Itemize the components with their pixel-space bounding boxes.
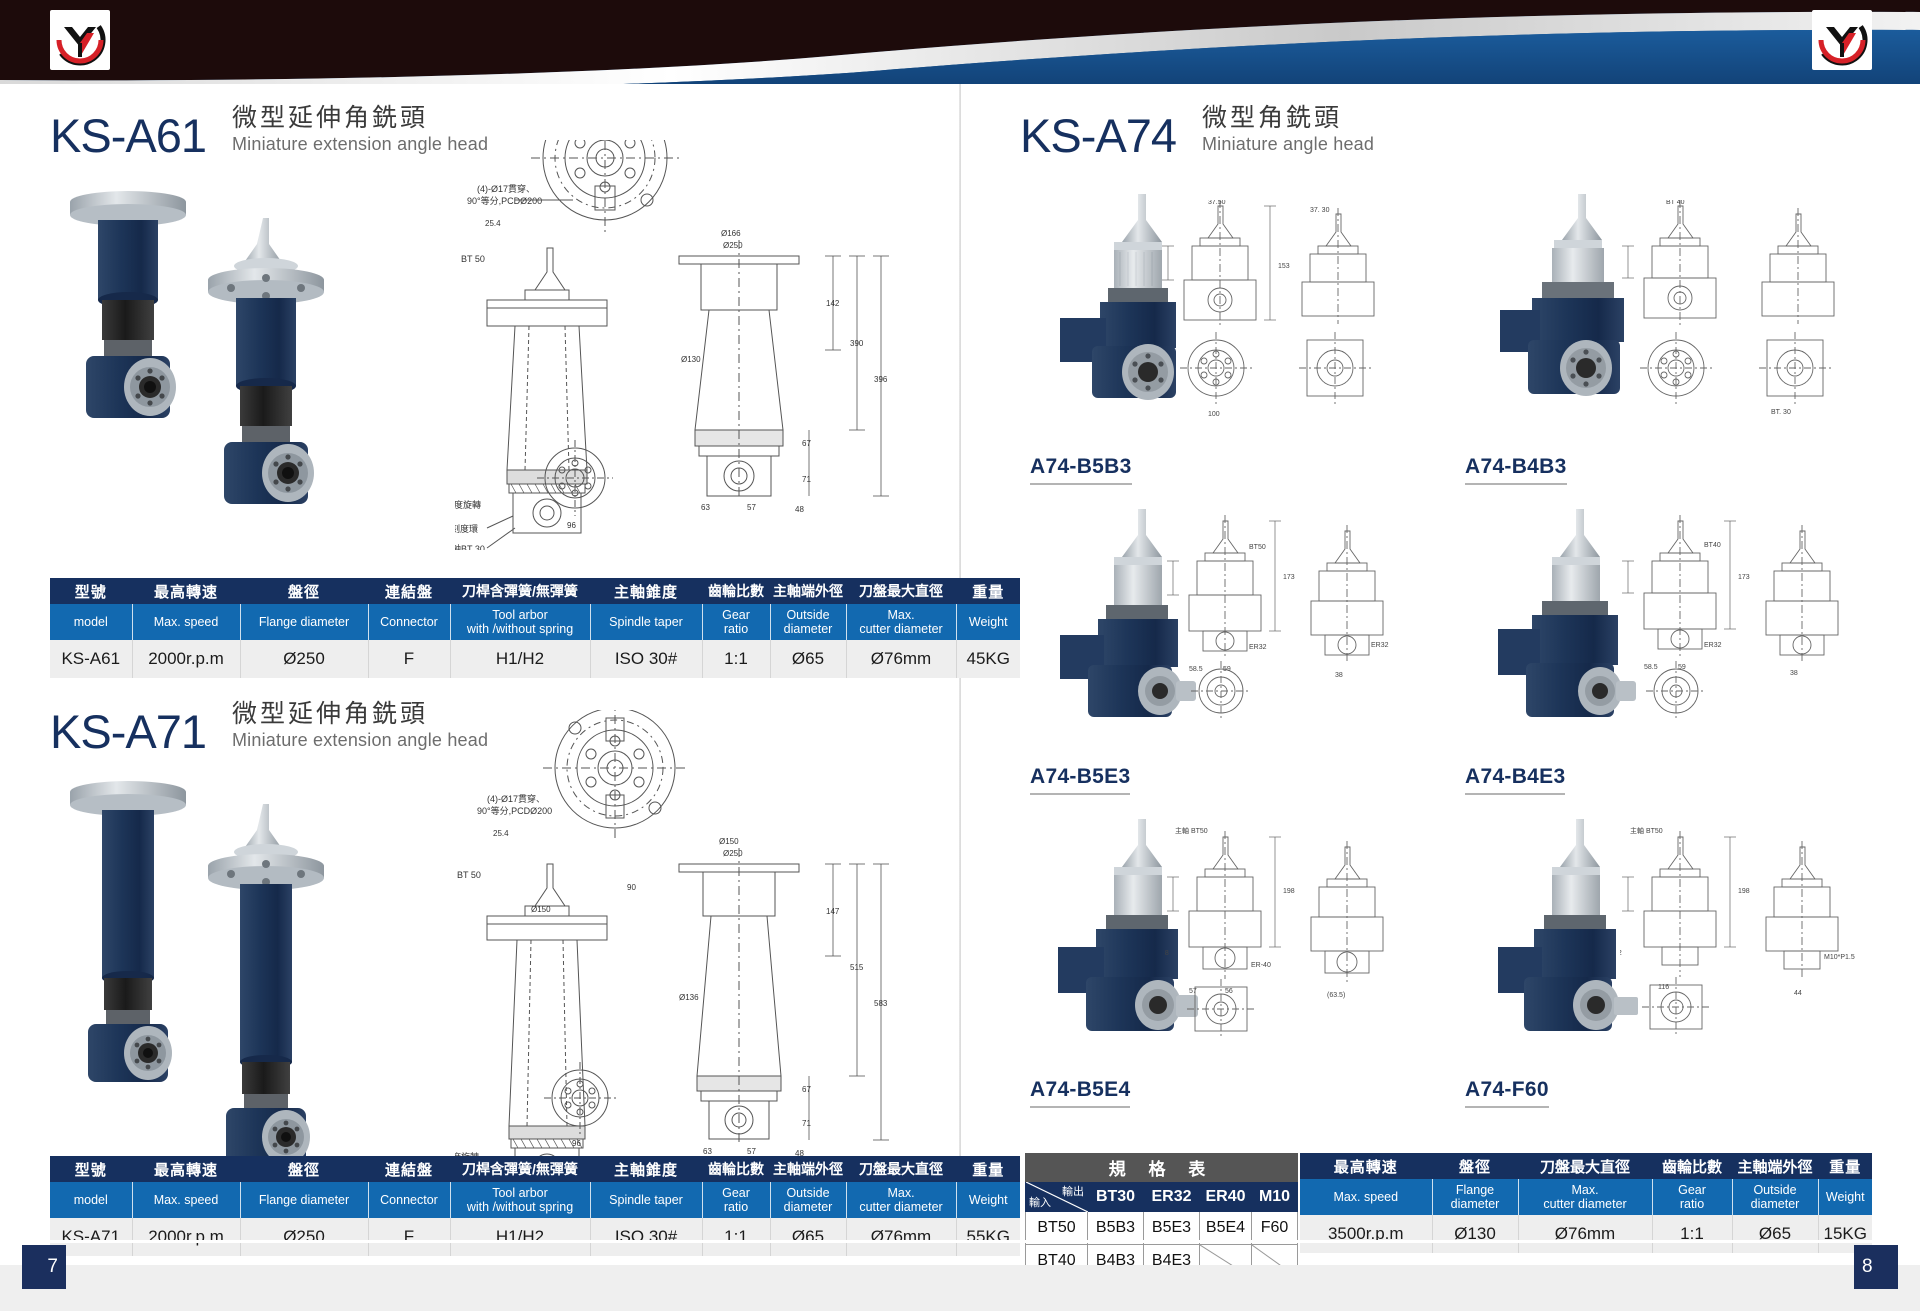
- svg-text:ER32: ER32: [1704, 642, 1722, 649]
- svg-text:BT40: BT40: [1704, 542, 1721, 549]
- th-cn-taper: 主軸錐度: [590, 1156, 702, 1182]
- th-en-model: model: [50, 604, 132, 640]
- product-label-a74-b5e3: A74-B5E3: [1030, 765, 1130, 795]
- svg-text:37.50: 37.50: [1208, 200, 1226, 206]
- svg-text:56: 56: [1225, 988, 1233, 995]
- svg-text:173: 173: [1283, 574, 1295, 581]
- th-en-weight: Weight: [1818, 1179, 1872, 1215]
- th-en-arbor: Tool arbor with /without spring: [450, 604, 590, 640]
- svg-text:142: 142: [826, 299, 840, 308]
- th-cn-flange: 盤徑: [240, 578, 368, 604]
- svg-text:71: 71: [802, 1119, 811, 1128]
- th-en-connector: Connector: [368, 1182, 450, 1218]
- top-banner: [0, 0, 1920, 84]
- svg-text:Ø150: Ø150: [719, 837, 739, 846]
- svg-text:Ø166: Ø166: [721, 229, 741, 238]
- svg-text:Ø130: Ø130: [681, 355, 701, 364]
- logo-left: [50, 10, 110, 70]
- th-en-cutter: Max. cutter diameter: [846, 1182, 956, 1218]
- th-cn-outside: 主軸端外徑: [1732, 1153, 1818, 1179]
- th-cn-flange: 盤徑: [240, 1156, 368, 1182]
- technical-drawing-a74-b5b3: 16(.R3) 153 37.50 37. 30 100: [1160, 200, 1410, 430]
- section-name-en: Miniature angle head: [1202, 133, 1374, 156]
- table-header-cn-row: 型號 最高轉速 盤徑 連結盤 刀桿含彈簧/無彈簧 主軸錐度 齒輪比數 主軸端外徑…: [50, 1156, 1020, 1182]
- section-heading-ks-a61: KS-A61 微型延伸角銑頭 Miniature extension angle…: [50, 104, 488, 158]
- table-header-en-row: Max. speed Flange diameter Max. cutter d…: [1300, 1179, 1872, 1215]
- matrix-corner-cell: 輸出 輸入: [1026, 1182, 1088, 1212]
- svg-text:198: 198: [1283, 888, 1295, 895]
- th-cn-connector: 連結盤: [368, 578, 450, 604]
- th-en-connector: Connector: [368, 604, 450, 640]
- td-weight: 55KG: [956, 1218, 1020, 1256]
- th-en-speed: Max. speed: [1300, 1179, 1432, 1215]
- svg-text:Ø250: Ø250: [723, 849, 743, 858]
- matrix-header-row: 輸出 輸入 BT30 ER32 ER40 M10: [1026, 1182, 1298, 1212]
- svg-text:153: 153: [1278, 263, 1290, 270]
- th-cn-speed: 最高轉速: [132, 1156, 240, 1182]
- svg-text:主軸BT 30: 主軸BT 30: [455, 543, 485, 550]
- th-en-flange: Flange diameter: [240, 604, 368, 640]
- th-en-flange: Flange diameter: [240, 1182, 368, 1218]
- product-label-a74-b4e3: A74-B4E3: [1465, 765, 1565, 795]
- section-heading-ks-a71: KS-A71 微型延伸角銑頭 Miniature extension angle…: [50, 700, 488, 754]
- th-en-outside: Outside diameter: [1732, 1179, 1818, 1215]
- th-cn-weight: 重量: [956, 578, 1020, 604]
- svg-text:M10*P1.5: M10*P1.5: [1824, 954, 1855, 961]
- section-name-cn: 微型延伸角銑頭: [232, 104, 488, 133]
- td-taper: ISO 30#: [590, 1218, 702, 1256]
- technical-drawing-a74-b5e3: BT50 ER32 173 58.5 59: [1165, 515, 1415, 735]
- company-logo-icon: [53, 13, 107, 67]
- th-en-arbor: Tool arbor with /without spring: [450, 1182, 590, 1218]
- spec-table-ks-a61: 型號 最高轉速 盤徑 連結盤 刀桿含彈簧/無彈簧 主軸錐度 齒輪比數 主軸端外徑…: [50, 578, 1020, 678]
- td-model: KS-A61: [50, 640, 132, 678]
- th-en-outside: Outside diameter: [770, 1182, 846, 1218]
- svg-text:38: 38: [1790, 670, 1798, 677]
- th-cn-arbor: 刀桿含彈簧/無彈簧: [450, 1156, 590, 1182]
- th-cn-arbor: 刀桿含彈簧/無彈簧: [450, 578, 590, 604]
- page-number-left: 7: [22, 1245, 66, 1289]
- td-connector: F: [368, 640, 450, 678]
- matrix-col-er40: ER40: [1200, 1182, 1252, 1212]
- svg-text:390: 390: [850, 339, 864, 348]
- th-en-gear: Gear ratio: [702, 604, 770, 640]
- svg-text:ER32: ER32: [1249, 644, 1267, 651]
- svg-text:主軸 BT50: 主軸 BT50: [1630, 826, 1663, 835]
- svg-text:BT 40: BT 40: [1666, 200, 1685, 206]
- td-weight: 45KG: [956, 640, 1020, 678]
- svg-text:57: 57: [747, 503, 756, 512]
- technical-drawing-a74-b5e4: 主軸 BT50 ER-40 198 48 57 56: [1165, 825, 1415, 1050]
- svg-text:38: 38: [1335, 672, 1343, 679]
- product-photos-ks-a61: [40, 190, 460, 550]
- table-header-en-row: model Max. speed Flange diameter Connect…: [50, 604, 1020, 640]
- th-cn-outside: 主軸端外徑: [770, 578, 846, 604]
- td-outside: Ø65: [770, 1218, 846, 1256]
- matrix-title-row: 規 格 表: [1026, 1154, 1298, 1182]
- svg-text:71: 71: [802, 475, 811, 484]
- td-connector: F: [368, 1218, 450, 1256]
- svg-text:42: 42: [1620, 950, 1622, 957]
- logo-right: [1812, 10, 1872, 70]
- section-code: KS-A61: [50, 114, 206, 159]
- model-matrix-table: 規 格 表 輸出 輸入 BT30 ER32 ER40 M10 BT50 B5B3…: [1025, 1153, 1298, 1278]
- td-arbor: H1/H2: [450, 640, 590, 678]
- th-en-taper: Spindle taper: [590, 604, 702, 640]
- th-cn-speed: 最高轉速: [1300, 1153, 1432, 1179]
- svg-text:刻度環: 刻度環: [455, 523, 478, 534]
- td-gear: 1:1: [702, 1218, 770, 1256]
- section-name-cn: 微型角銑頭: [1202, 104, 1374, 133]
- th-cn-gear: 齒輪比數: [702, 1156, 770, 1182]
- product-label-a74-b5b3: A74-B5B3: [1030, 455, 1132, 485]
- td-speed: 2000r.p.m: [132, 640, 240, 678]
- svg-text:Ø250: Ø250: [723, 241, 743, 250]
- footer-divider: [0, 1240, 1920, 1243]
- th-cn-model: 型號: [50, 578, 132, 604]
- th-en-weight: Weight: [956, 604, 1020, 640]
- svg-text:173: 173: [1738, 574, 1750, 581]
- table-row: KS-A71 2000r.p.m Ø250 F H1/H2 ISO 30# 1:…: [50, 1218, 1020, 1256]
- svg-text:63: 63: [703, 1147, 712, 1156]
- th-cn-model: 型號: [50, 1156, 132, 1182]
- matrix-corner-output: 輸出: [1062, 1183, 1084, 1199]
- section-code: KS-A74: [1020, 114, 1176, 159]
- svg-text:25.4: 25.4: [485, 219, 501, 228]
- section-code: KS-A71: [50, 710, 206, 755]
- technical-drawing-a74-f60: 主軸 BT50 198 42 116 M10*P1.5 44: [1620, 825, 1870, 1050]
- product-label-a74-f60: A74-F60: [1465, 1078, 1549, 1108]
- td-cutter: Ø76mm: [846, 1218, 956, 1256]
- technical-drawing-ks-a61: (4)-Ø17貫穿、 90°等分,PCDØ200 25.4 BT 50: [455, 140, 925, 550]
- th-en-outside: Outside diameter: [770, 604, 846, 640]
- company-logo-icon: [1815, 13, 1869, 67]
- td-outside: Ø65: [770, 640, 846, 678]
- th-cn-connector: 連結盤: [368, 1156, 450, 1182]
- th-cn-cutter: 刀盤最大直徑: [846, 1156, 956, 1182]
- section-name-en: Miniature extension angle head: [232, 133, 488, 156]
- th-cn-cutter: 刀盤最大直徑: [846, 578, 956, 604]
- svg-text:147: 147: [826, 907, 840, 916]
- th-cn-taper: 主軸錐度: [590, 578, 702, 604]
- spec-table-ks-a74: 最高轉速 盤徑 刀盤最大直徑 齒輪比數 主軸端外徑 重量 Max. speed …: [1300, 1153, 1872, 1253]
- td-arbor: H1/H2: [450, 1218, 590, 1256]
- svg-text:48: 48: [1165, 950, 1169, 957]
- svg-text:BT50: BT50: [1249, 544, 1266, 551]
- matrix-corner-input: 輸入: [1029, 1194, 1051, 1210]
- svg-text:57: 57: [747, 1147, 756, 1156]
- td-flange: Ø250: [240, 1218, 368, 1256]
- table-header-en-row: model Max. speed Flange diameter Connect…: [50, 1182, 1020, 1218]
- svg-text:515: 515: [850, 963, 864, 972]
- svg-text:67: 67: [802, 1085, 811, 1094]
- td-gear: 1:1: [1652, 1215, 1732, 1253]
- svg-text:90°等分,PCDØ200: 90°等分,PCDØ200: [477, 805, 552, 816]
- catalog-spread: KS-A61 微型延伸角銑頭 Miniature extension angle…: [0, 0, 1920, 1311]
- section-name-en: Miniature extension angle head: [232, 729, 488, 752]
- svg-text:ER-40: ER-40: [1251, 962, 1271, 969]
- svg-text:37. 30: 37. 30: [1310, 207, 1330, 214]
- th-cn-weight: 重量: [1818, 1153, 1872, 1179]
- svg-text:48: 48: [795, 505, 804, 514]
- th-cn-outside: 主軸端外徑: [770, 1156, 846, 1182]
- th-cn-flange: 盤徑: [1432, 1153, 1518, 1179]
- svg-text:198: 198: [1738, 888, 1750, 895]
- th-en-speed: Max. speed: [132, 1182, 240, 1218]
- svg-text:ER32: ER32: [1371, 642, 1389, 649]
- svg-text:25.4: 25.4: [493, 829, 509, 838]
- svg-text:(63.5): (63.5): [1327, 992, 1345, 999]
- svg-text:58.5: 58.5: [1644, 664, 1658, 671]
- th-cn-gear: 齒輪比數: [1652, 1153, 1732, 1179]
- svg-text:396: 396: [874, 375, 888, 384]
- matrix-title: 規 格 表: [1026, 1154, 1298, 1182]
- td-taper: ISO 30#: [590, 640, 702, 678]
- svg-text:100: 100: [1208, 411, 1220, 418]
- technical-drawing-a74-b4e3: BT40 ER32 173 58.5 59: [1620, 515, 1870, 735]
- svg-text:96: 96: [572, 1139, 581, 1148]
- th-en-weight: Weight: [956, 1182, 1020, 1218]
- svg-text:57: 57: [1189, 988, 1197, 995]
- technical-drawing-ks-a71: (4)-Ø17貫穿、 90°等分,PCDØ200 25.4 BT 50 Ø150: [455, 710, 925, 1160]
- td-speed: 3500r.p.m: [1300, 1215, 1432, 1253]
- svg-text:BT 50: BT 50: [457, 870, 481, 880]
- th-en-speed: Max. speed: [132, 604, 240, 640]
- th-en-cutter: Max. cutter diameter: [1518, 1179, 1652, 1215]
- svg-text:58.5: 58.5: [1189, 666, 1203, 673]
- th-en-gear: Gear ratio: [1652, 1179, 1732, 1215]
- svg-text:主軸 BT50: 主軸 BT50: [1175, 826, 1208, 835]
- matrix-col-m10: M10: [1252, 1182, 1298, 1212]
- svg-text:BT 50: BT 50: [461, 254, 485, 264]
- svg-text:90: 90: [627, 883, 636, 892]
- footer-bar: [0, 1265, 1920, 1311]
- th-cn-weight: 重量: [956, 1156, 1020, 1182]
- td-speed: 2000r.p.m: [132, 1218, 240, 1256]
- svg-text:44: 44: [1794, 990, 1802, 997]
- svg-text:(4)-Ø17貫穿、: (4)-Ø17貫穿、: [477, 183, 535, 194]
- svg-text:67: 67: [802, 439, 811, 448]
- svg-text:Ø136: Ø136: [679, 993, 699, 1002]
- th-cn-cutter: 刀盤最大直徑: [1518, 1153, 1652, 1179]
- th-en-taper: Spindle taper: [590, 1182, 702, 1218]
- svg-text:96: 96: [567, 521, 576, 530]
- matrix-col-er32: ER32: [1144, 1182, 1200, 1212]
- td-outside: Ø65: [1732, 1215, 1818, 1253]
- th-en-model: model: [50, 1182, 132, 1218]
- table-header-cn-row: 型號 最高轉速 盤徑 連結盤 刀桿含彈簧/無彈簧 主軸錐度 齒輪比數 主軸端外徑…: [50, 578, 1020, 604]
- td-gear: 1:1: [702, 640, 770, 678]
- product-label-a74-b5e4: A74-B5E4: [1030, 1078, 1130, 1108]
- td-cutter: Ø76mm: [846, 640, 956, 678]
- svg-text:刻度旋轉: 刻度旋轉: [455, 499, 481, 510]
- svg-text:Ø150: Ø150: [531, 905, 551, 914]
- technical-drawing-a74-b4b3: BT 40: [1620, 200, 1870, 430]
- th-en-cutter: Max. cutter diameter: [846, 604, 956, 640]
- th-cn-gear: 齒輪比數: [702, 578, 770, 604]
- table-row: 3500r.p.m Ø130 Ø76mm 1:1 Ø65 15KG: [1300, 1215, 1872, 1253]
- product-label-a74-b4b3: A74-B4B3: [1465, 455, 1567, 485]
- table-header-cn-row: 最高轉速 盤徑 刀盤最大直徑 齒輪比數 主軸端外徑 重量: [1300, 1153, 1872, 1179]
- td-cutter: Ø76mm: [1518, 1215, 1652, 1253]
- th-en-flange: Flange diameter: [1432, 1179, 1518, 1215]
- section-heading-ks-a74: KS-A74 微型角銑頭 Miniature angle head: [1020, 104, 1374, 158]
- svg-text:BT. 30: BT. 30: [1771, 409, 1791, 416]
- table-row: KS-A61 2000r.p.m Ø250 F H1/H2 ISO 30# 1:…: [50, 640, 1020, 678]
- th-cn-speed: 最高轉速: [132, 578, 240, 604]
- matrix-col-bt30: BT30: [1088, 1182, 1144, 1212]
- svg-text:(4)-Ø17貫穿、: (4)-Ø17貫穿、: [487, 793, 545, 804]
- td-flange: Ø250: [240, 640, 368, 678]
- td-flange: Ø130: [1432, 1215, 1518, 1253]
- page-number-right: 8: [1854, 1245, 1898, 1289]
- product-photos-ks-a71: [40, 780, 460, 1160]
- section-name-cn: 微型延伸角銑頭: [232, 700, 488, 729]
- svg-text:63: 63: [701, 503, 710, 512]
- th-en-gear: Gear ratio: [702, 1182, 770, 1218]
- svg-text:583: 583: [874, 999, 888, 1008]
